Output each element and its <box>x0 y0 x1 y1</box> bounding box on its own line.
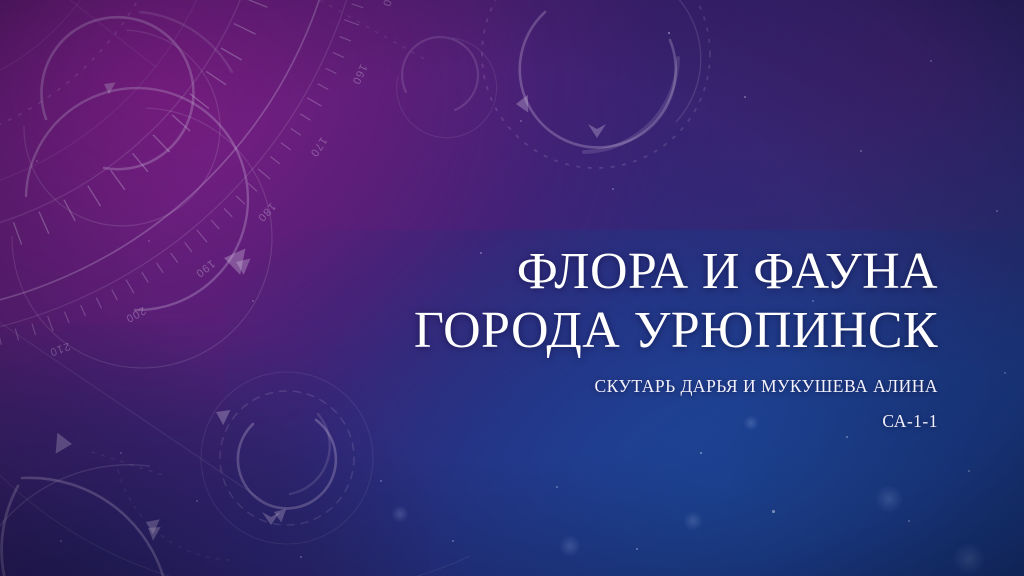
title-slide: 140 150 160 170 180 190 200 210 220 230 … <box>0 0 1024 576</box>
slide-title-line-2: ГОРОДА УРЮПИНСК <box>218 301 938 360</box>
title-text-block: ФЛОРА И ФАУНА ГОРОДА УРЮПИНСК СКУТАРЬ ДА… <box>218 242 938 432</box>
slide-authors: СКУТАРЬ ДАРЬЯ И МУКУШЕВА АЛИНА <box>218 375 938 397</box>
slide-title-line-1: ФЛОРА И ФАУНА <box>218 242 938 301</box>
slide-group: СА-1-1 <box>218 410 938 432</box>
